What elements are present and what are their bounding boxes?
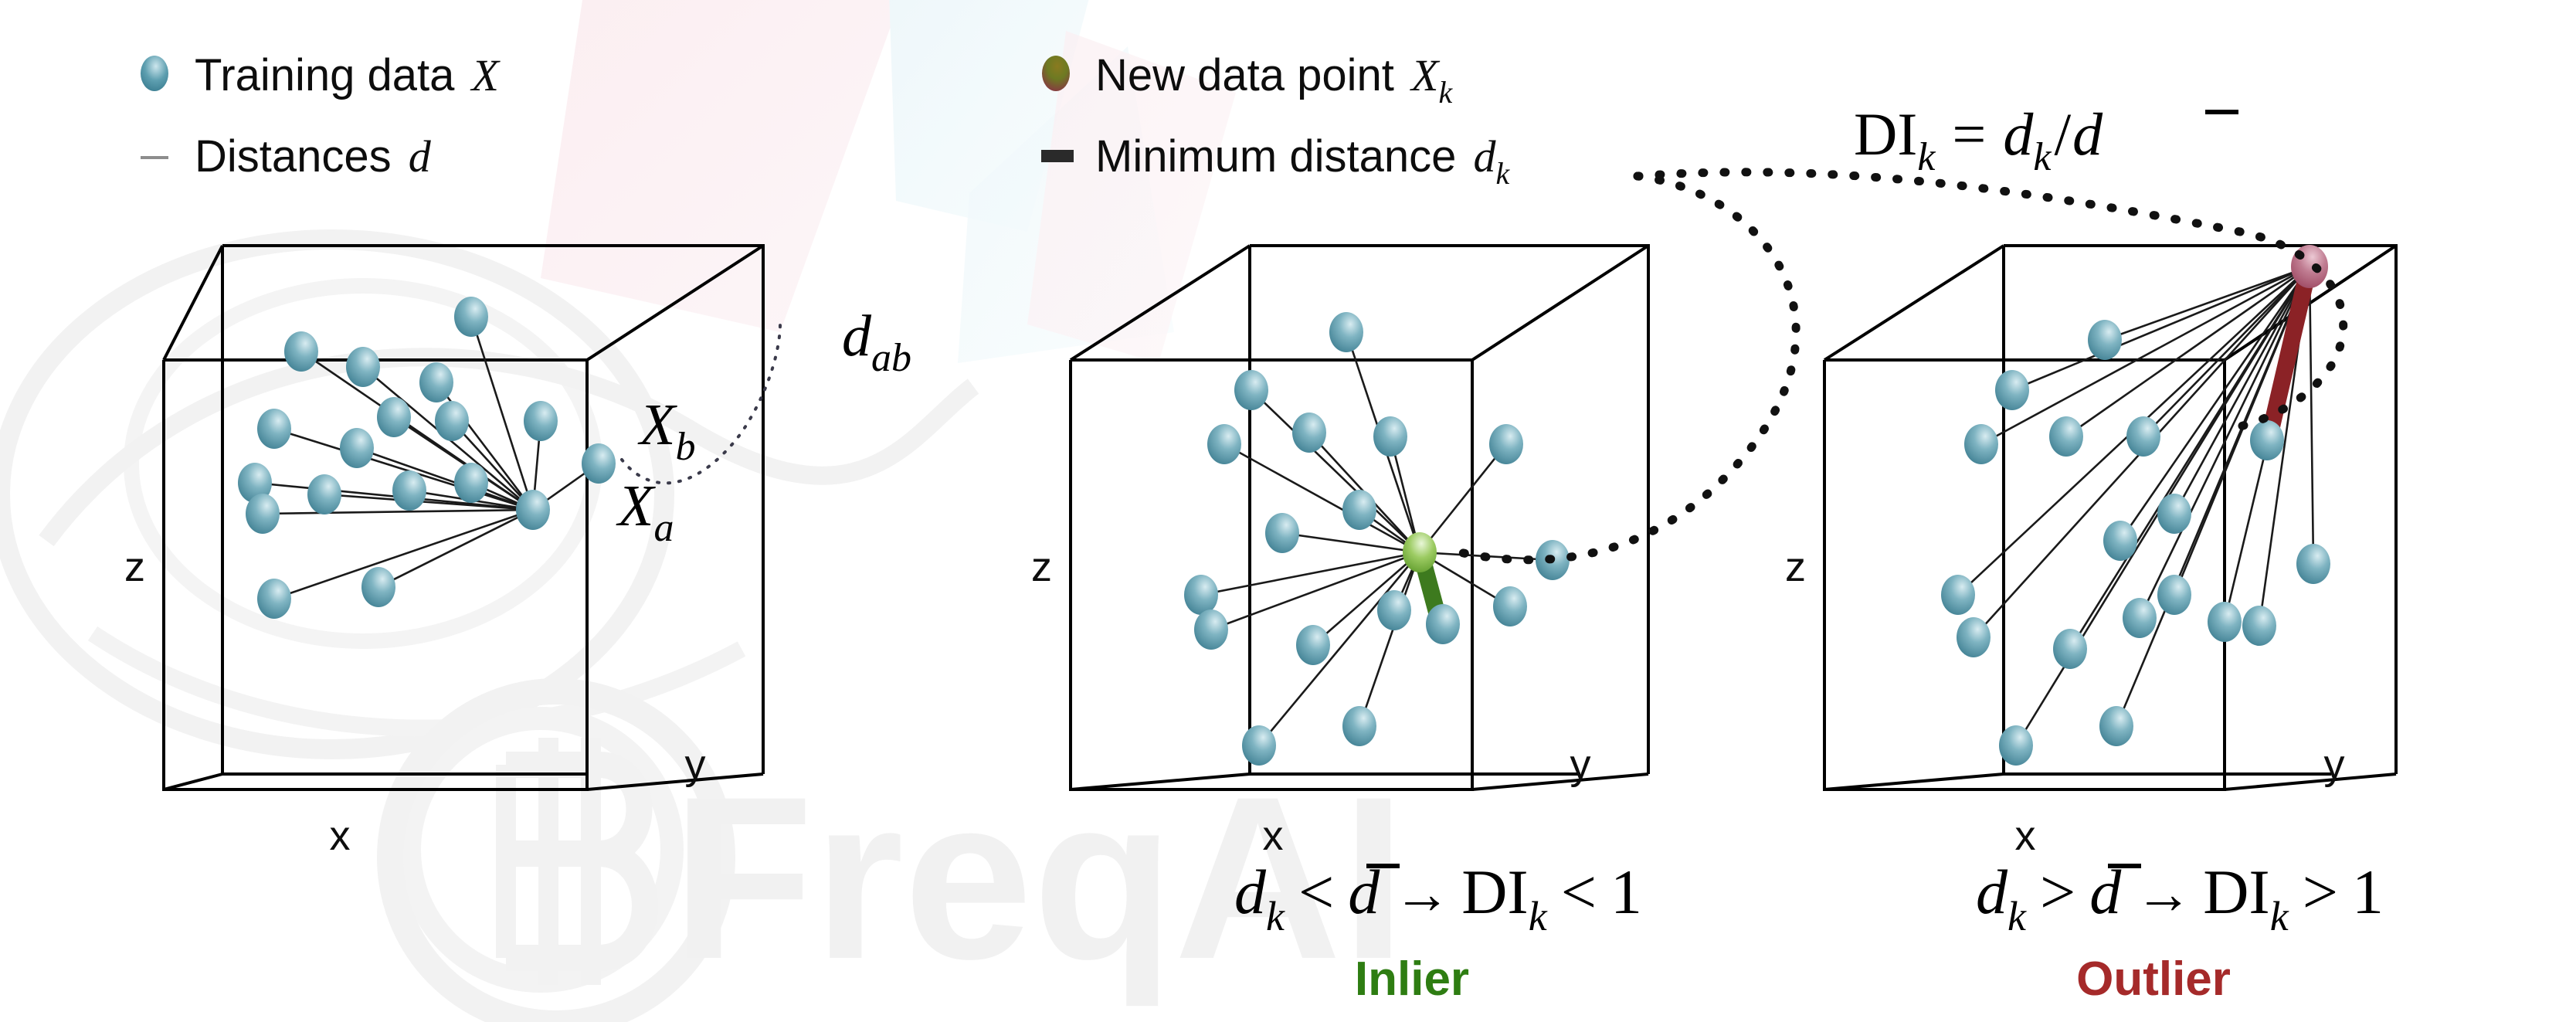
panel-training: Xa Xb dab z x y [124, 246, 911, 859]
data-point [377, 397, 411, 437]
data-point [1489, 424, 1523, 464]
axis-label-y-panel2: y [1570, 742, 1591, 788]
data-point [1941, 575, 1975, 615]
data-point [2242, 606, 2276, 646]
status-badge-inlier: Inlier [1355, 952, 1469, 1006]
label-dab: dab [842, 304, 911, 380]
data-point [1995, 370, 2029, 410]
caption-outlier: dk>d→DIk>1 Outlier [1976, 857, 2384, 1006]
data-point-nearest [1426, 604, 1460, 644]
data-point [1342, 706, 1376, 746]
caption-inlier: dk<d→DIk<1 Inlier [1234, 857, 1642, 1006]
new-point-icon [1042, 56, 1070, 91]
axis-label-z-panel2: z [1031, 544, 1052, 590]
caption-formula-outlier: dk>d→DIk>1 [1976, 857, 2384, 939]
data-point [361, 567, 395, 607]
data-point [2053, 629, 2087, 669]
data-point [2208, 602, 2242, 642]
diagram-layer: Training data X Distances d New data poi… [0, 0, 2576, 1022]
label-xa: Xa [616, 474, 674, 550]
data-point [1194, 609, 1228, 650]
legend-label-training-data: Training data X [195, 50, 501, 100]
data-point [524, 401, 558, 441]
formula-di-definition: DIk=dk/d [1854, 100, 2238, 179]
dk-connector-dotted [1460, 176, 1796, 560]
axis-label-x-panel3: x [2015, 813, 2036, 859]
data-point [1373, 416, 1407, 457]
legend-item-minimum-distance[interactable]: Minimum distance dk [1041, 131, 1510, 191]
data-point [307, 474, 341, 514]
data-point-nearest [2250, 420, 2284, 460]
data-point [2157, 494, 2191, 534]
axis-label-z-panel1: z [124, 544, 145, 590]
legend-item-new-data-point[interactable]: New data point Xk [1042, 50, 1453, 110]
training-points-panel1 [238, 297, 616, 619]
axis-label-x-panel2: x [1263, 813, 1284, 859]
data-point [2099, 706, 2133, 746]
data-point [454, 297, 488, 337]
training-points-panel3 [1941, 245, 2330, 766]
figure-root: FreqAI Trainin [0, 0, 2576, 1022]
data-point [2103, 521, 2137, 561]
data-point [1242, 725, 1276, 766]
data-point [1342, 490, 1376, 530]
training-points-panel2 [1184, 312, 1570, 766]
data-point [1957, 617, 1991, 657]
legend: Training data X Distances d New data poi… [141, 50, 1510, 191]
legend-item-training-data[interactable]: Training data X [141, 50, 501, 100]
caption-formula-inlier: dk<d→DIk<1 [1234, 857, 1642, 939]
axis-label-z-panel3: z [1785, 544, 1806, 590]
legend-label-minimum-distance: Minimum distance dk [1095, 131, 1510, 191]
data-point [435, 401, 469, 441]
data-point [1234, 370, 1268, 410]
data-point [1329, 312, 1363, 352]
data-point [2157, 575, 2191, 615]
panel-outlier: z x y [1785, 245, 2396, 859]
data-point-xa-hub [516, 490, 550, 530]
svg-text:DIk=dk/d: DIk=dk/d [1854, 100, 2103, 179]
distance-lines-outlier [1958, 267, 2313, 745]
data-point-xb [582, 443, 616, 484]
data-point [1207, 424, 1241, 464]
data-point [1292, 413, 1326, 453]
data-point [454, 463, 488, 503]
training-point-icon [141, 56, 168, 91]
data-point [1377, 590, 1411, 630]
axis-label-x-panel1: x [330, 813, 351, 859]
data-point [1184, 575, 1218, 615]
data-point [340, 428, 374, 468]
data-point [257, 579, 291, 619]
status-badge-outlier: Outlier [2076, 952, 2231, 1006]
data-point [2123, 598, 2157, 638]
data-point [2088, 320, 2122, 360]
data-point [257, 409, 291, 449]
new-data-point-inlier [1403, 532, 1437, 572]
data-point [2126, 416, 2160, 457]
legend-item-distances[interactable]: Distances d [141, 131, 432, 182]
axis-label-y-panel1: y [685, 742, 706, 788]
legend-label-distances: Distances d [195, 131, 432, 182]
data-point [1265, 513, 1299, 553]
data-point [2049, 416, 2083, 457]
data-point [392, 470, 426, 511]
data-point [1493, 586, 1527, 626]
panel-inlier: z x y [1031, 246, 1648, 859]
dk-connector-dotted-tail [1638, 172, 2344, 426]
label-xb: Xb [637, 392, 695, 469]
data-point [419, 362, 453, 402]
data-point [1999, 725, 2033, 766]
data-point [1964, 424, 1998, 464]
axis-label-y-panel3: y [2324, 742, 2345, 788]
data-point [1296, 625, 1330, 665]
data-point [246, 494, 280, 534]
data-point [346, 347, 380, 387]
legend-label-new-data-point: New data point Xk [1095, 50, 1453, 110]
data-point [284, 331, 318, 372]
data-point [2296, 544, 2330, 584]
